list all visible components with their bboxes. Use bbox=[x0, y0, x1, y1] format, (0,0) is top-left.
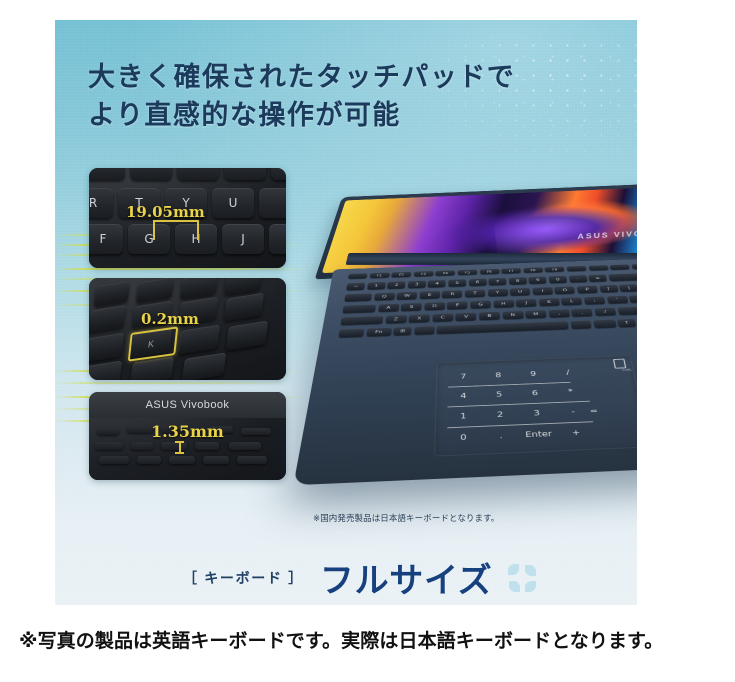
laptop-key-fn[interactable]: Fn bbox=[366, 328, 391, 337]
travel-cap-bottom bbox=[175, 452, 184, 454]
numpad-key-enter[interactable]: Enter bbox=[524, 426, 553, 442]
laptop-key-w[interactable]: W bbox=[397, 292, 418, 300]
calculator-label: Calc bbox=[622, 367, 632, 371]
laptop-key-sym[interactable]: / bbox=[594, 307, 616, 315]
laptop-key-f[interactable]: F bbox=[447, 301, 467, 309]
numpad-key-*[interactable]: * bbox=[557, 384, 585, 399]
laptop-key-f6[interactable]: F6 bbox=[480, 269, 499, 275]
laptop-key-sym[interactable]: = bbox=[588, 274, 607, 282]
laptop-key-q[interactable]: Q bbox=[374, 293, 395, 301]
key-g: G bbox=[128, 224, 170, 254]
laptop-key-z[interactable]: Z bbox=[385, 315, 406, 323]
key-u: U bbox=[212, 188, 254, 218]
numpad-key-5[interactable]: 5 bbox=[486, 387, 513, 402]
numpad-key-.[interactable]: . bbox=[487, 427, 515, 443]
key-h: H bbox=[175, 224, 217, 254]
laptop-key-sym[interactable]: ] bbox=[619, 284, 637, 292]
numpad-key-8[interactable]: 8 bbox=[485, 368, 511, 382]
laptop-key-sym[interactable]: - bbox=[569, 275, 587, 283]
page-title: 大きく確保されたタッチパッドで より直感的な操作が可能 bbox=[88, 58, 518, 135]
laptop-key-k[interactable]: K bbox=[539, 298, 560, 306]
measure-label-key-travel: 1.35mm bbox=[151, 422, 224, 441]
laptop-key-tab[interactable] bbox=[344, 293, 371, 301]
key-blank bbox=[177, 168, 219, 180]
laptop-key-alt[interactable] bbox=[571, 320, 592, 329]
key-blank bbox=[130, 168, 172, 180]
laptop-key-0[interactable]: 0 bbox=[549, 276, 567, 284]
laptop-key-e[interactable]: E bbox=[420, 291, 440, 299]
travel-cap-top bbox=[175, 441, 184, 443]
laptop-key-shift[interactable] bbox=[617, 306, 637, 315]
inset-key-travel: ASUS Vivobook 1.35mm bbox=[89, 392, 286, 480]
laptop-key-sym[interactable]: . bbox=[571, 308, 593, 316]
laptop-key-sym[interactable]: ⊞ bbox=[393, 327, 411, 336]
laptop-key-ctrl[interactable] bbox=[339, 329, 365, 338]
laptop-key-5[interactable]: 5 bbox=[448, 279, 466, 287]
laptop-key-4[interactable]: 4 bbox=[428, 280, 446, 288]
key-f: F bbox=[89, 224, 123, 254]
laptop-key-7[interactable]: 7 bbox=[489, 278, 507, 286]
laptop-key-c[interactable]: C bbox=[432, 313, 453, 321]
laptop-key-1[interactable]: 1 bbox=[367, 282, 386, 290]
key-blank bbox=[271, 168, 286, 180]
laptop-key-f5[interactable]: F5 bbox=[458, 269, 477, 275]
laptop-key-t[interactable]: T bbox=[465, 289, 485, 297]
touchpad[interactable]: 789/456*123-0.Enter+= Calc bbox=[434, 355, 637, 456]
laptop-key-8[interactable]: 8 bbox=[509, 277, 527, 285]
promo-page: 大きく確保されたタッチパッドで より直感的な操作が可能 bbox=[0, 0, 735, 682]
laptop-key-6[interactable]: 6 bbox=[469, 278, 487, 286]
laptop-key-p[interactable]: P bbox=[577, 285, 598, 293]
sparkle-icon bbox=[508, 564, 536, 592]
laptop-key-del[interactable] bbox=[631, 264, 637, 270]
laptop-key-f11[interactable] bbox=[588, 265, 608, 271]
fullsize-value: フルサイズ bbox=[320, 553, 492, 602]
footer-disclaimer: ※写真の製品は英語キーボードです。実際は日本語キーボードとなります。 bbox=[19, 626, 719, 653]
laptop-key-sym[interactable]: ; bbox=[584, 296, 605, 304]
laptop-key-u[interactable]: U bbox=[510, 288, 530, 296]
laptop-key-sym[interactable]: ~ bbox=[346, 283, 365, 291]
laptop-key-esc[interactable] bbox=[348, 273, 367, 279]
laptop-key-sym[interactable]: , bbox=[548, 309, 569, 317]
key-blank bbox=[224, 168, 266, 180]
numpad-key-7[interactable]: 7 bbox=[450, 369, 476, 383]
laptop-key-f4[interactable]: F4 bbox=[436, 270, 455, 276]
laptop-photo: ASUS VIVOBOOK F1F2F3F4F5F6F7F8F9 ~123456… bbox=[289, 157, 637, 532]
laptop-key-g[interactable]: G bbox=[470, 300, 490, 308]
laptop-key-o[interactable]: O bbox=[555, 286, 576, 294]
laptop-key-f8[interactable]: F8 bbox=[523, 267, 543, 273]
numpad-key-equals[interactable]: = bbox=[583, 403, 605, 418]
laptop-key-2[interactable]: 2 bbox=[387, 281, 405, 289]
laptop-key-alt[interactable] bbox=[414, 326, 434, 335]
measure-tick-right bbox=[197, 220, 199, 240]
laptop-key-j[interactable]: J bbox=[516, 299, 537, 307]
laptop-key-b[interactable]: B bbox=[479, 312, 500, 320]
key-blank bbox=[269, 224, 286, 254]
laptop-key-ctrl[interactable] bbox=[593, 319, 616, 328]
laptop-key-enter[interactable] bbox=[629, 294, 637, 303]
laptop-key-m[interactable]: M bbox=[525, 310, 546, 318]
laptop-key-9[interactable]: 9 bbox=[529, 276, 547, 284]
key-blank bbox=[259, 188, 286, 218]
laptop-key-r[interactable]: R bbox=[442, 290, 462, 298]
numpad-key-2[interactable]: 2 bbox=[486, 407, 514, 422]
laptop-key-y[interactable]: Y bbox=[487, 289, 507, 297]
laptop-key-f3[interactable]: F3 bbox=[414, 271, 434, 277]
numpad-key-3[interactable]: 3 bbox=[523, 405, 551, 420]
laptop-key-f10[interactable] bbox=[567, 266, 587, 272]
measure-label-key-dish: 0.2mm bbox=[141, 310, 199, 328]
numpad-key-0[interactable]: 0 bbox=[449, 429, 477, 445]
laptop-key-h[interactable]: H bbox=[493, 300, 514, 308]
laptop-key-v[interactable]: V bbox=[456, 312, 477, 320]
laptop-key-a[interactable]: A bbox=[378, 304, 399, 312]
numpad-key-6[interactable]: 6 bbox=[521, 385, 548, 400]
laptop-key-f2[interactable]: F2 bbox=[392, 272, 412, 278]
laptop-key-x[interactable]: X bbox=[409, 314, 430, 322]
numpad-key-9[interactable]: 9 bbox=[520, 366, 547, 380]
key-j: J bbox=[222, 224, 264, 254]
laptop-base: F1F2F3F4F5F6F7F8F9 ~1234567890-= QWERTYU… bbox=[293, 257, 637, 486]
numpad-key-+[interactable]: + bbox=[561, 424, 590, 440]
inset-key-dish: K 0.2mm bbox=[89, 278, 286, 380]
keyboard-region-note: ※国内発売製品は日本語キーボードとなります。 bbox=[313, 512, 499, 524]
fullsize-tag: ［ キーボード ］ bbox=[183, 568, 304, 588]
key-blank bbox=[89, 168, 125, 180]
laptop-key-sym[interactable]: ↑ bbox=[617, 319, 636, 327]
inset-key-pitch: R T Y U F G H J 19.05mm bbox=[89, 168, 286, 268]
numpad-key-/[interactable]: / bbox=[554, 365, 581, 379]
brand-label: ASUS Vivobook bbox=[89, 392, 286, 418]
laptop-key-3[interactable]: 3 bbox=[408, 281, 426, 289]
laptop-key-i[interactable]: I bbox=[532, 287, 553, 295]
laptop-key-l[interactable]: L bbox=[561, 297, 582, 305]
key-r: R bbox=[89, 188, 113, 218]
numberpad-overlay[interactable]: 789/456*123-0.Enter+= bbox=[447, 363, 609, 448]
laptop-key-f9[interactable]: F9 bbox=[545, 267, 565, 273]
laptop-key-f1[interactable]: F1 bbox=[369, 272, 389, 278]
laptop-key-f7[interactable]: F7 bbox=[501, 268, 521, 274]
fullsize-banner: ［ キーボード ］ フルサイズ bbox=[183, 553, 536, 602]
laptop-key-sym[interactable]: ' bbox=[606, 296, 628, 304]
laptop-key-shift[interactable] bbox=[341, 316, 384, 325]
numpad-key-4[interactable]: 4 bbox=[450, 388, 477, 403]
laptop-key-sym[interactable]: [ bbox=[599, 285, 618, 293]
laptop-key-n[interactable]: N bbox=[502, 311, 523, 319]
measure-label-key-pitch: 19.05mm bbox=[126, 203, 205, 221]
laptop-key-backspace[interactable] bbox=[608, 273, 637, 281]
measure-tick-left bbox=[153, 220, 155, 240]
laptop-key-s[interactable]: S bbox=[401, 303, 422, 311]
laptop-key-f12[interactable] bbox=[610, 264, 630, 270]
promo-panel: 大きく確保されたタッチパッドで より直感的な操作が可能 bbox=[55, 20, 637, 605]
laptop-key-space[interactable] bbox=[437, 321, 569, 334]
laptop-key-d[interactable]: D bbox=[424, 302, 445, 310]
laptop-key-capslock[interactable] bbox=[343, 304, 376, 313]
keyboard-deck: F1F2F3F4F5F6F7F8F9 ~1234567890-= QWERTYU… bbox=[335, 262, 637, 359]
numpad-key-1[interactable]: 1 bbox=[450, 408, 477, 424]
